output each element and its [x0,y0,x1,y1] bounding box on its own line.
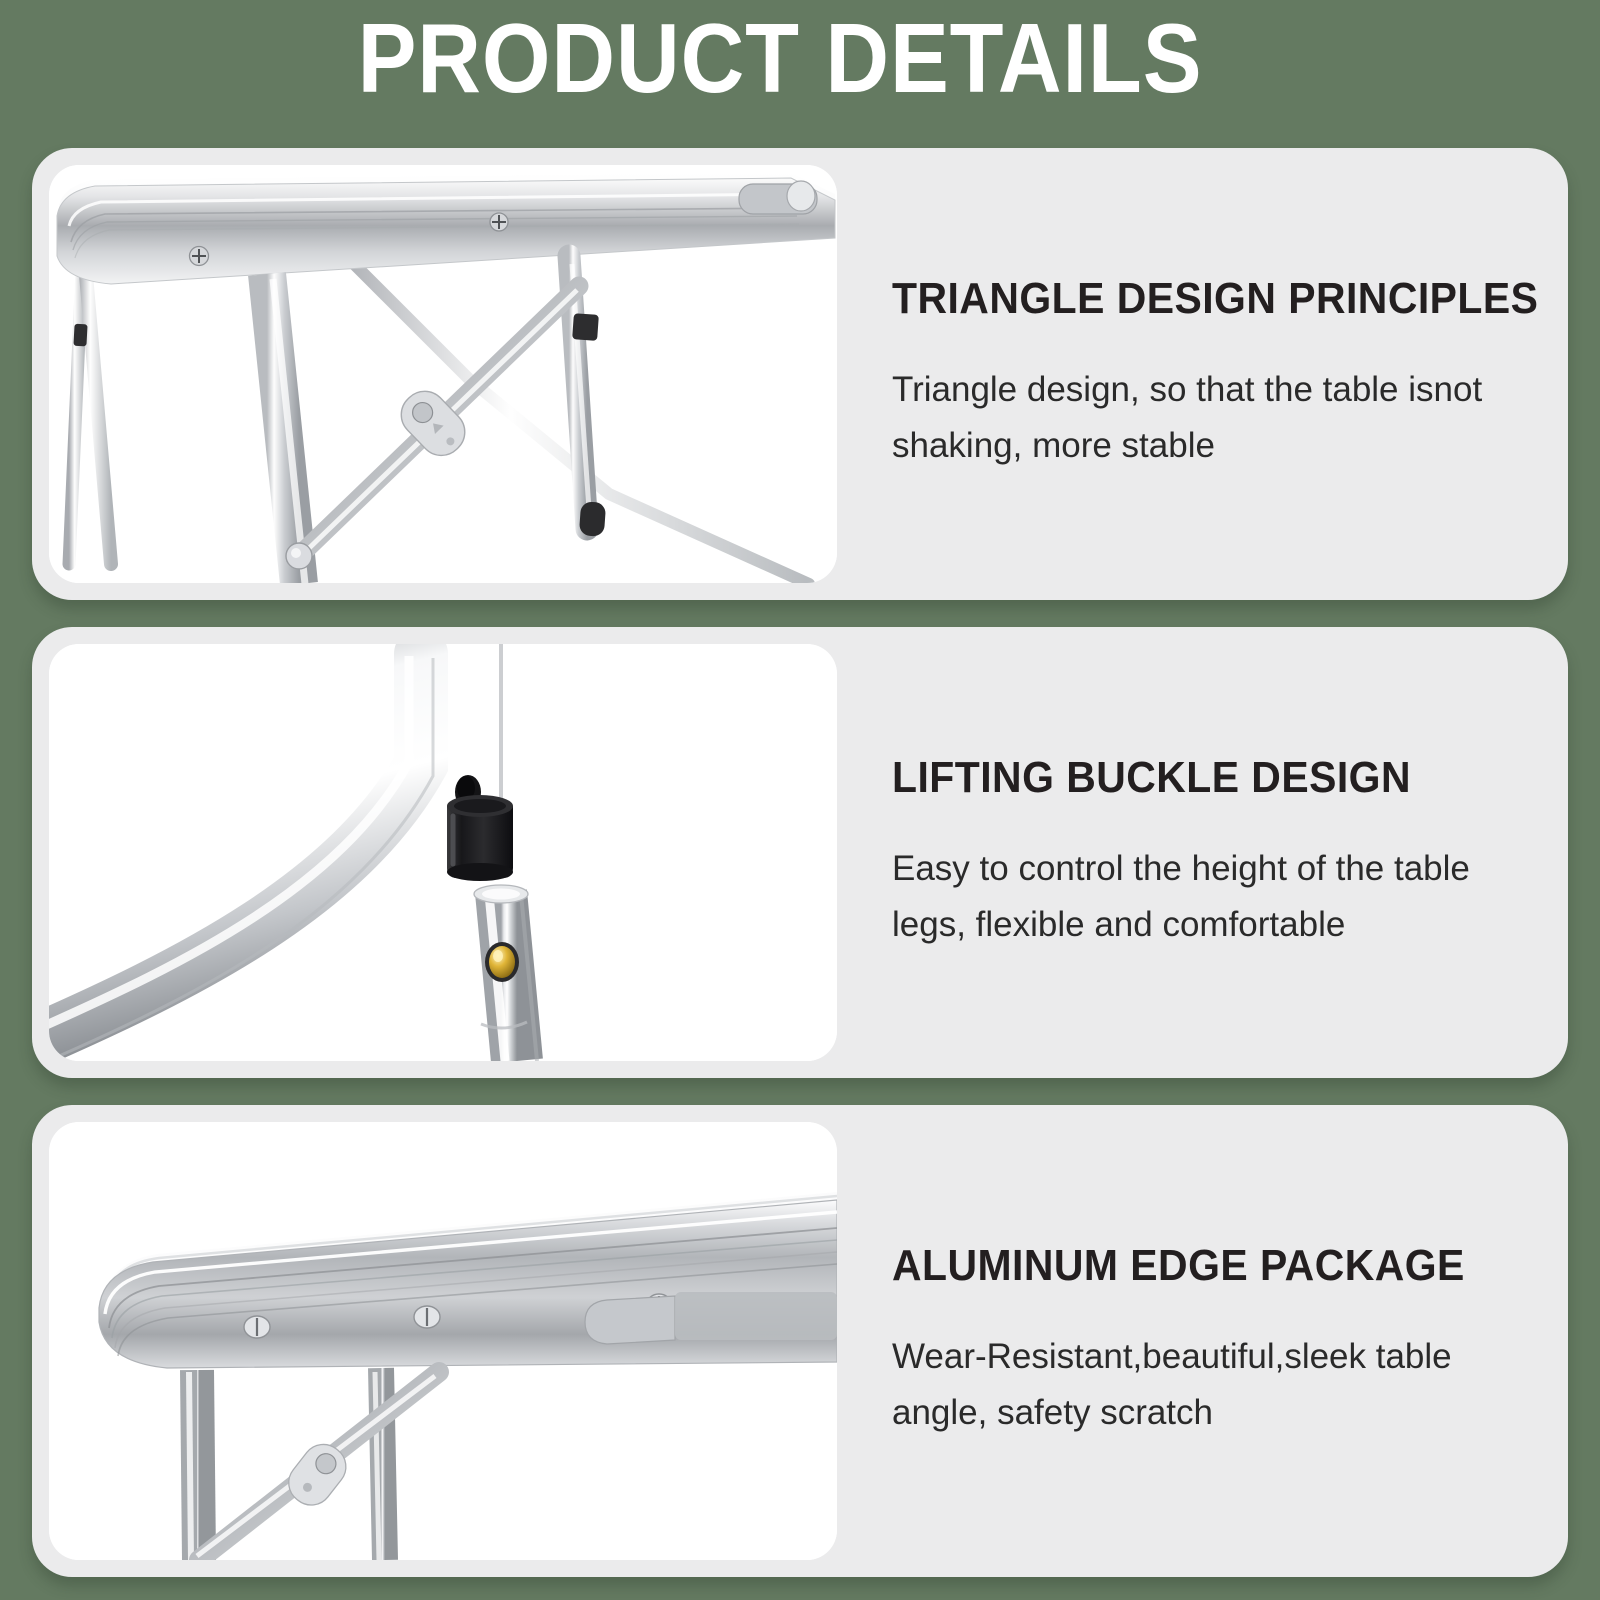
product-photo-lifting-buckle [49,644,837,1061]
feature-body: Triangle design, so that the table isnot… [892,362,1532,474]
product-photo-aluminum-edge [49,1122,837,1560]
aluminum-edge-corner-illustration [49,1122,837,1560]
feature-heading: LIFTING BUCKLE DESIGN [892,753,1468,803]
feature-heading: ALUMINUM EDGE PACKAGE [892,1241,1468,1291]
feature-card-triangle-design: TRIANGLE DESIGN PRINCIPLES Triangle desi… [32,148,1568,600]
feature-body: Easy to control the height of the table … [892,841,1511,953]
feature-text-column: ALUMINUM EDGE PACKAGE Wear-Resistant,bea… [837,1122,1551,1560]
product-photo-triangle-brace [49,165,837,583]
feature-body: Wear-Resistant,beautiful,sleek table ang… [892,1329,1511,1441]
feature-card-aluminum-edge: ALUMINUM EDGE PACKAGE Wear-Resistant,bea… [32,1105,1568,1577]
feature-text-column: TRIANGLE DESIGN PRINCIPLES Triangle desi… [837,165,1600,583]
feature-heading: TRIANGLE DESIGN PRINCIPLES [892,274,1538,324]
page-title: PRODUCT DETAILS [78,6,1482,110]
feature-text-column: LIFTING BUCKLE DESIGN Easy to control th… [837,644,1551,1061]
feature-card-lifting-buckle: LIFTING BUCKLE DESIGN Easy to control th… [32,627,1568,1078]
telescoping-leg-illustration [49,644,837,1061]
table-underside-illustration [49,165,837,583]
